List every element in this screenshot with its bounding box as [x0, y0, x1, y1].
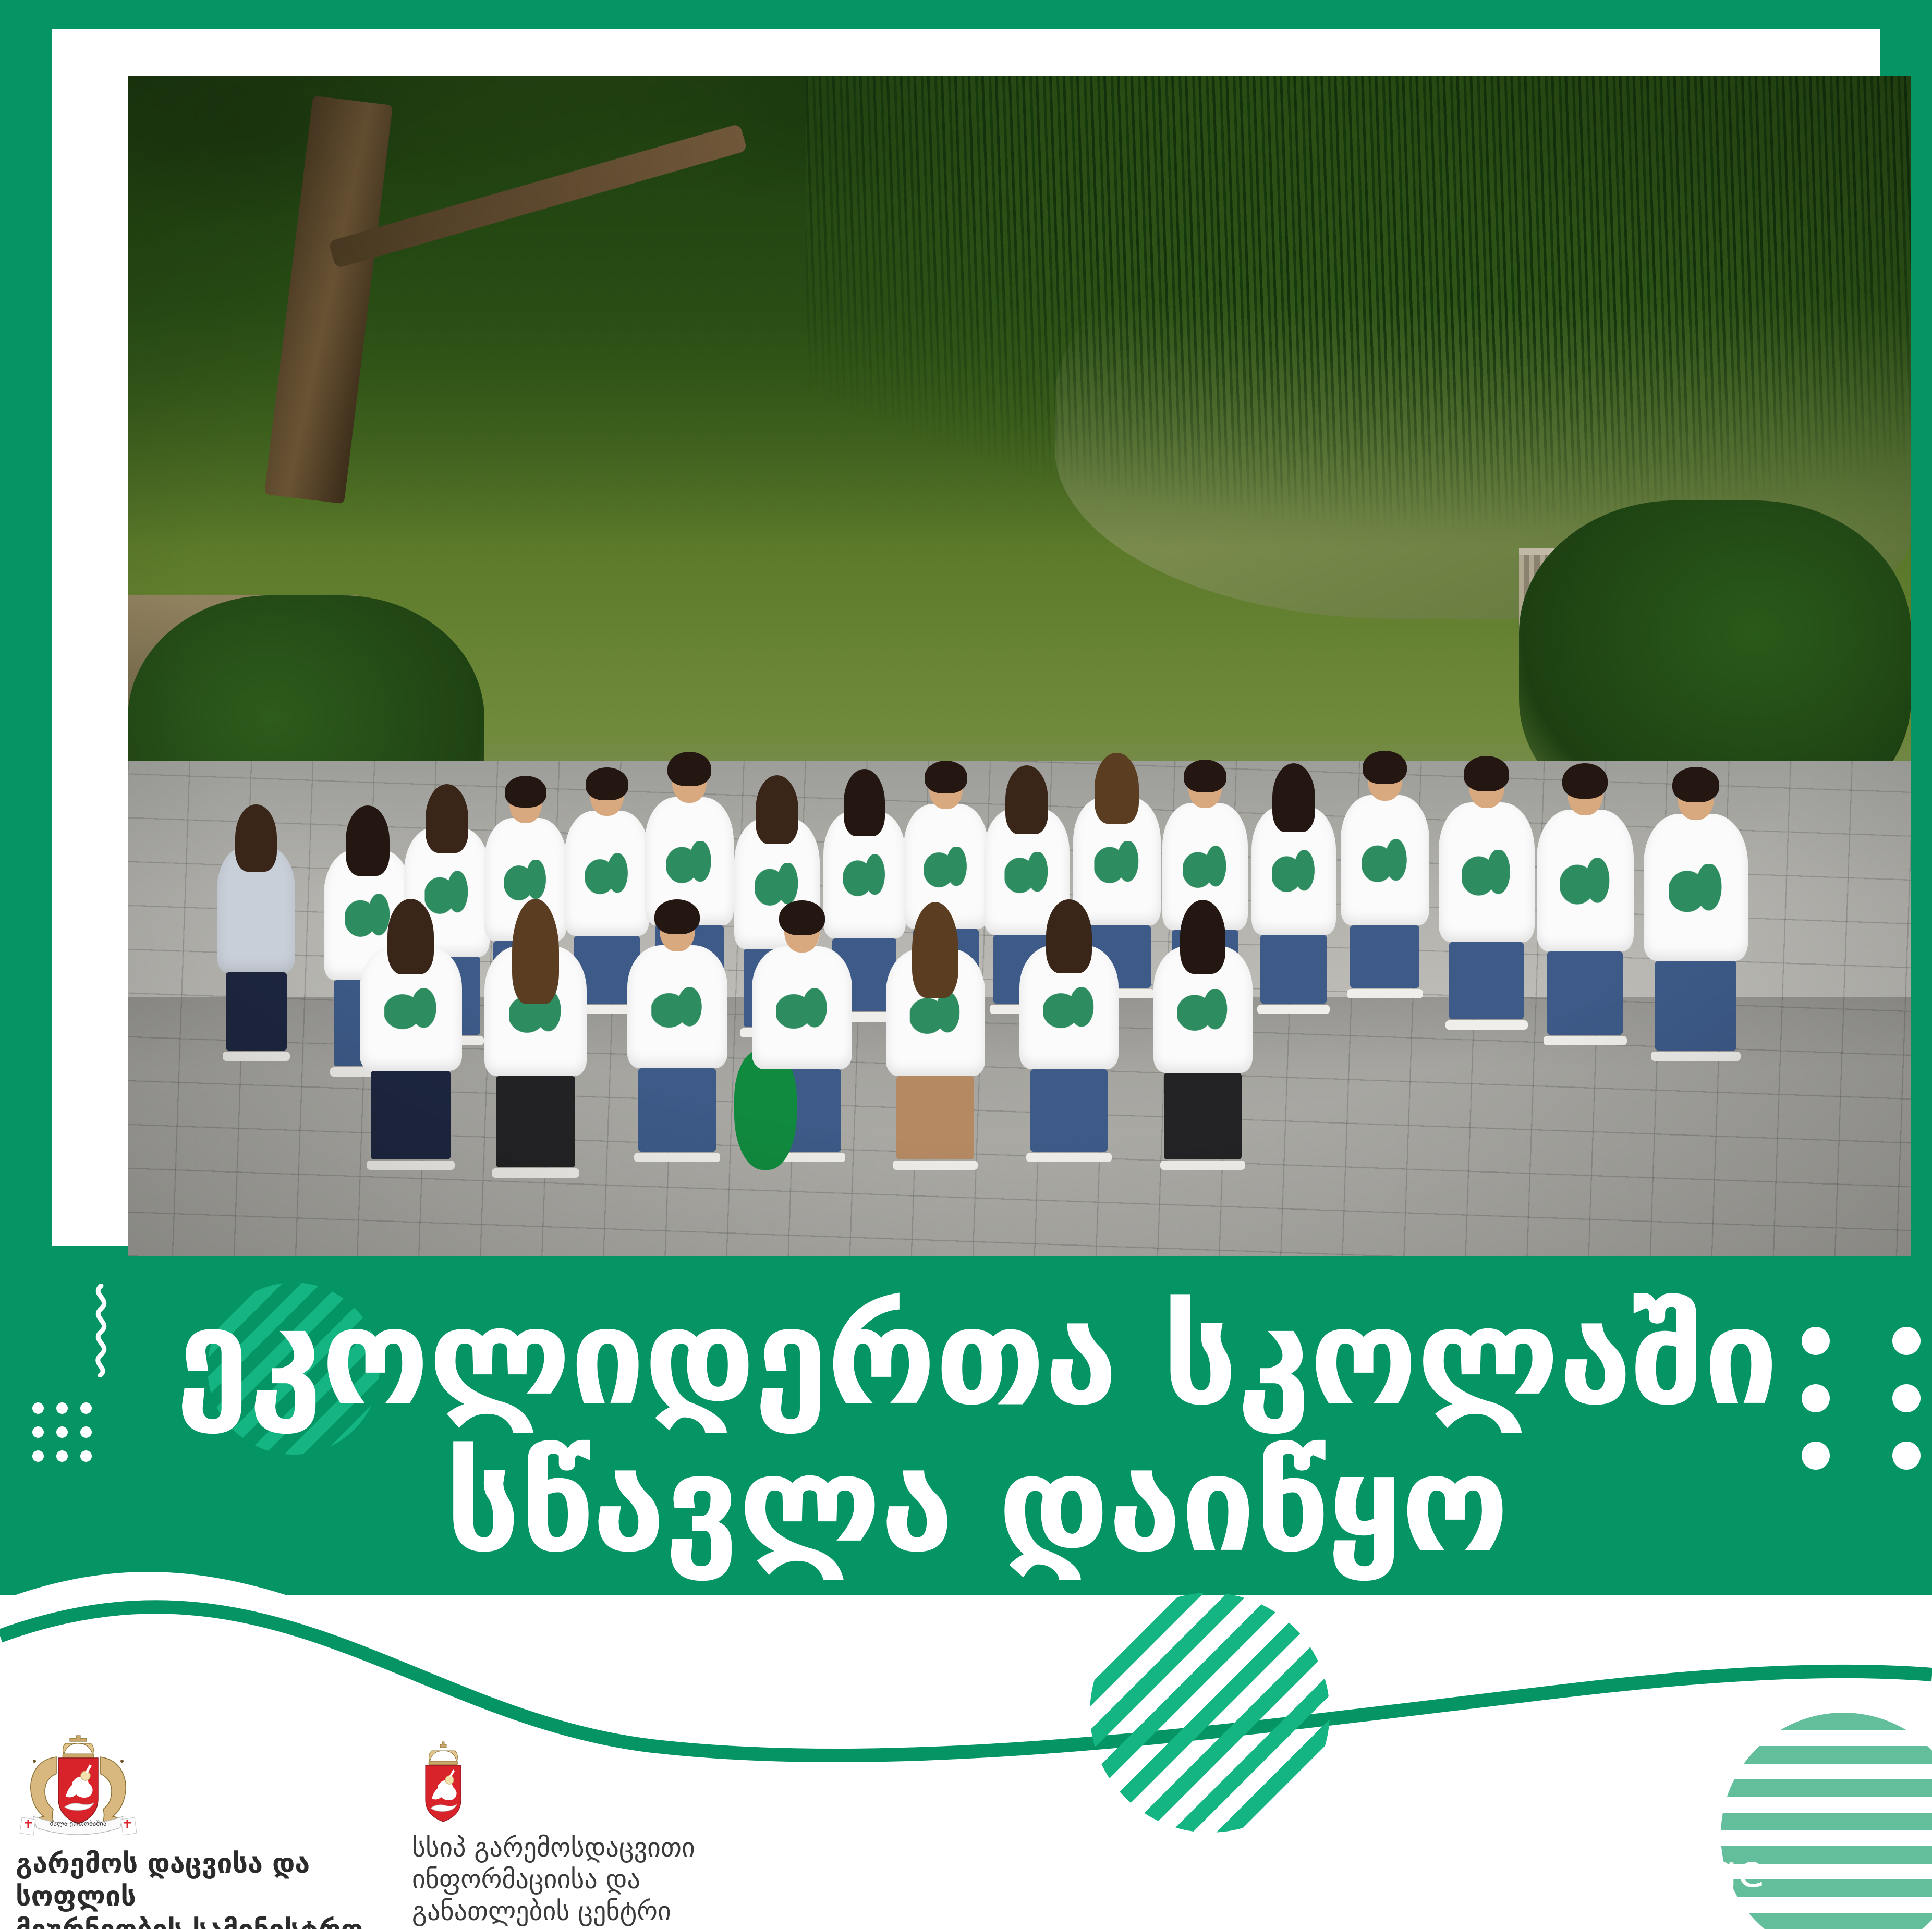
- photo-scene: [128, 76, 1911, 1256]
- contact-info[interactable]: www.eiec.gov.ge | info@eiec.gov.ge: [961, 1846, 1765, 1898]
- georgia-coat-of-arms-icon: ძალა ერთობაშია: [16, 1734, 141, 1843]
- ministry-name: გარემოს დაცვისა და სოფლის მეურნეობის სამ…: [16, 1848, 412, 1929]
- photo-people-group: [128, 406, 1911, 1186]
- photo-person: [217, 811, 295, 1061]
- photo-white-mat: [52, 29, 1880, 1246]
- group-photo: [128, 76, 1911, 1256]
- photo-person: [1251, 770, 1336, 1014]
- photo-person: [1439, 763, 1535, 1030]
- ministry-logo-block: ძალა ერთობაშია გარემოს დაცვისა და სოფლის…: [16, 1734, 412, 1929]
- georgia-shield-crown-icon: [412, 1741, 475, 1825]
- photo-person: [1537, 771, 1634, 1045]
- photo-person: [1644, 774, 1748, 1061]
- diagonal-striped-circle-large-icon: [1090, 1593, 1330, 1833]
- photo-person: [1153, 907, 1253, 1170]
- poster-root: ეკოლიდერთა სკოლაში სწავლა დაიწყო: [0, 0, 1932, 1929]
- poster-title: ეკოლიდერთა სკოლაში სწავლა დაიწყო: [0, 1288, 1932, 1574]
- poster-title-line-1: ეკოლიდერთა სკოლაში: [0, 1288, 1932, 1427]
- photo-person: [627, 907, 727, 1162]
- coat-of-arms-motto: ძალა ერთობაშია: [50, 1820, 107, 1828]
- photo-person: [1341, 758, 1429, 999]
- photo-person: [484, 906, 587, 1178]
- photo-person: [1019, 907, 1119, 1163]
- center-logo-block: სსიპ გარემოსდაცვითი ინფორმაციისა და განა…: [412, 1741, 746, 1927]
- poster-title-line-2: სწავლა დაიწყო: [0, 1435, 1932, 1574]
- center-name: სსიპ გარემოსდაცვითი ინფორმაციისა და განა…: [412, 1832, 695, 1927]
- photo-person: [886, 909, 985, 1170]
